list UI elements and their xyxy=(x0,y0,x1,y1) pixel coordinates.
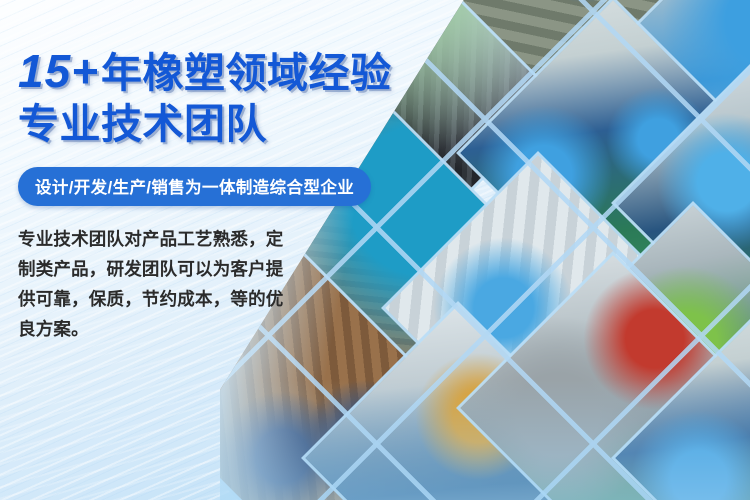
headline-years-number: 15+ xyxy=(18,45,101,97)
headline-line-1-text: 年橡塑领域经验 xyxy=(101,50,392,96)
banner-text-block: 15+年橡塑领域经验 专业技术团队 设计/开发/生产/销售为一体制造综合型企业 … xyxy=(18,48,448,344)
banner-body-copy: 专业技术团队对产品工艺熟悉，定制类产品，研发团队可以为客户提供可靠，保质，节约成… xyxy=(18,224,290,344)
company-banner: 15+年橡塑领域经验 专业技术团队 设计/开发/生产/销售为一体制造综合型企业 … xyxy=(0,0,750,500)
tagline-pill: 设计/开发/生产/销售为一体制造综合型企业 xyxy=(18,167,371,206)
headline-line-2: 专业技术团队 xyxy=(18,104,448,146)
headline-line-1: 15+年橡塑领域经验 xyxy=(18,48,448,95)
banner-headline: 15+年橡塑领域经验 专业技术团队 xyxy=(18,48,448,146)
